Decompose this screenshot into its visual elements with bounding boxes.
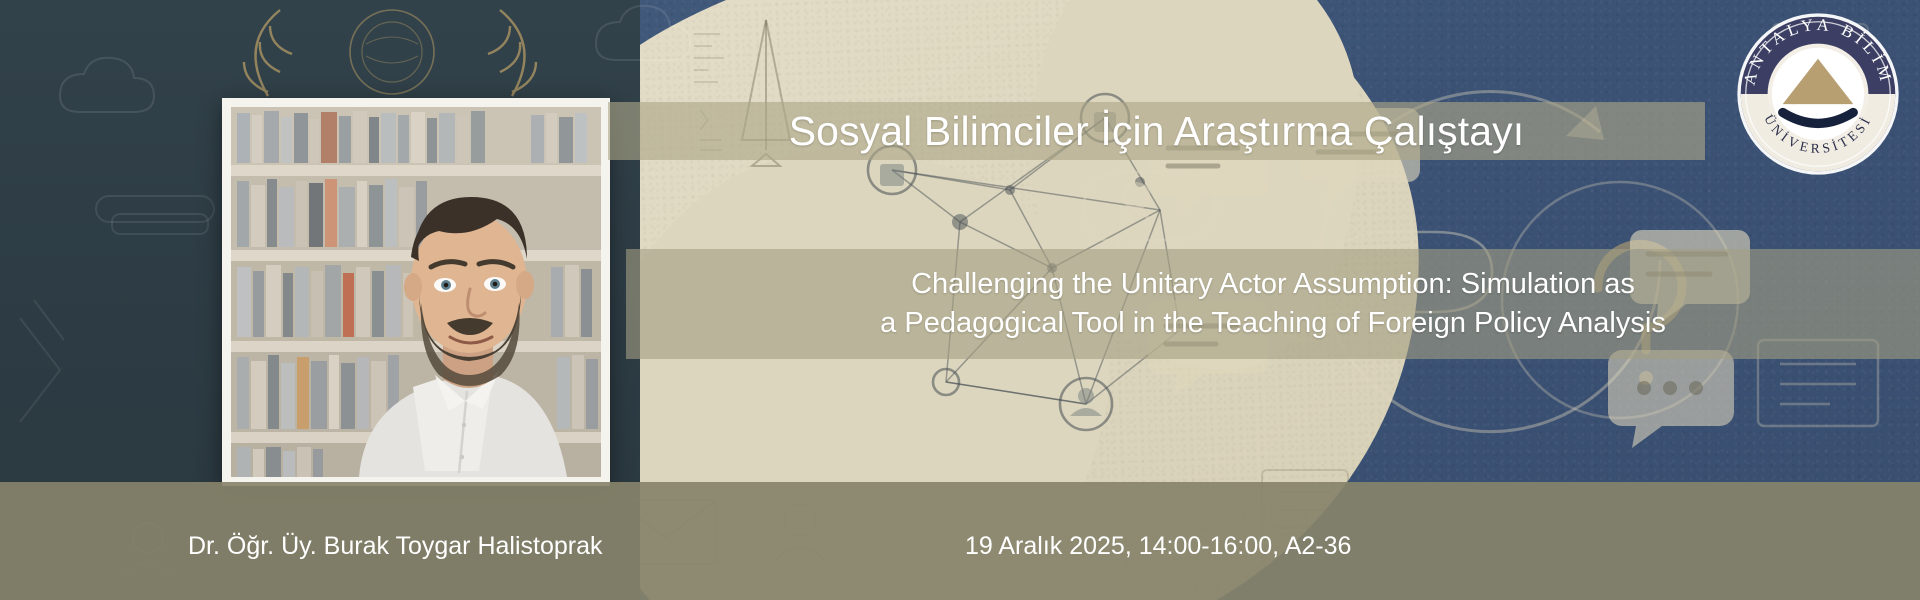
subtitle-line-1: Challenging the Unitary Actor Assumption… [911, 265, 1635, 304]
title-band: Sosyal Bilimciler İçin Araştırma Çalışta… [608, 102, 1705, 160]
subtitle-line-2: a Pedagogical Tool in the Teaching of Fo… [880, 304, 1666, 343]
footer-bar: Dr. Öğr. Üy. Burak Toygar Halistoprak 19… [0, 482, 1920, 600]
speaker-photo-frame [222, 98, 610, 486]
university-logo: ANTALYA BİLİM ÜNİVERSİTESİ [1734, 10, 1902, 178]
event-datetime-location: 19 Aralık 2025, 14:00-16:00, A2-36 [965, 532, 1351, 561]
speaker-portrait-photo [231, 107, 601, 477]
event-poster: ANTALYA BİLİM ÜNİVERSİTESİ Sosyal Bilimc… [0, 0, 1920, 600]
speaker-photo [231, 107, 601, 477]
speaker-name: Dr. Öğr. Üy. Burak Toygar Halistoprak [188, 532, 603, 561]
page-title: Sosyal Bilimciler İçin Araştırma Çalışta… [789, 108, 1525, 155]
subtitle-band: Challenging the Unitary Actor Assumption… [626, 249, 1920, 359]
